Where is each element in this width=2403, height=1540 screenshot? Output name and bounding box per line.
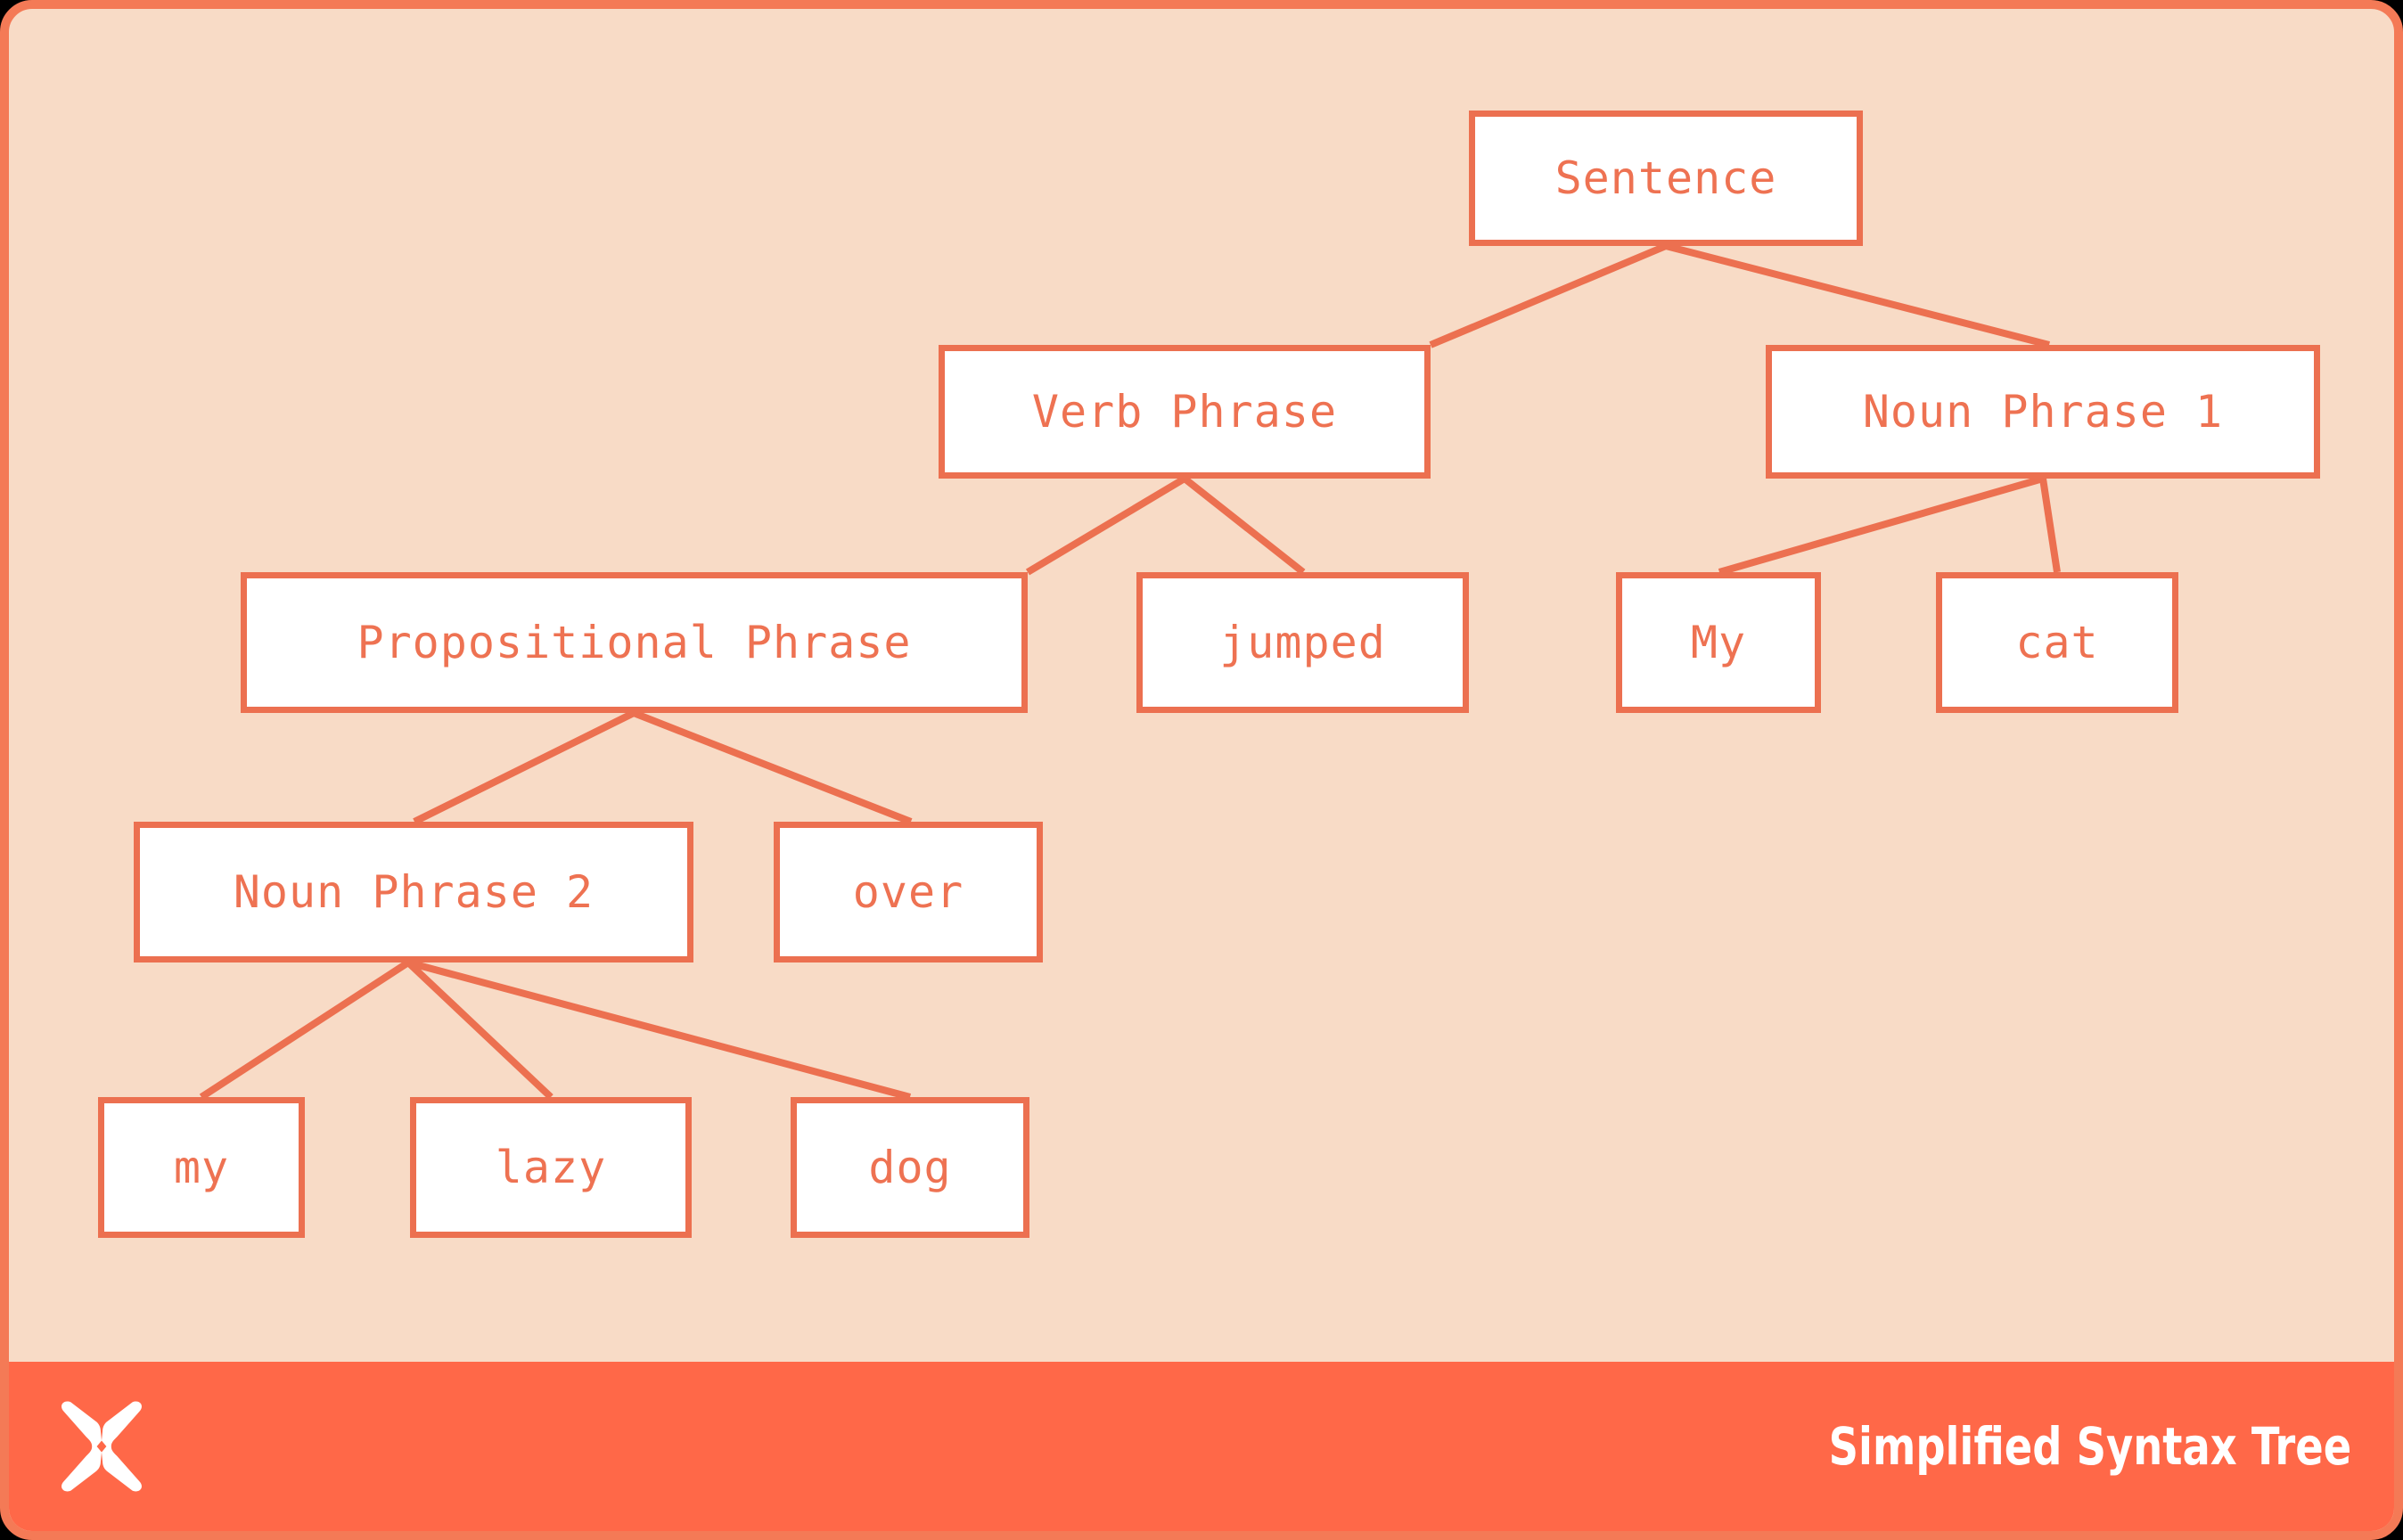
tree-node-verb[interactable]: Verb Phrase [939, 345, 1431, 479]
tree-node-lazy[interactable]: lazy [410, 1097, 692, 1238]
tree-node-cat[interactable]: cat [1936, 572, 2178, 713]
tree-node-jumped[interactable]: jumped [1136, 572, 1469, 713]
tree-node-noun1[interactable]: Noun Phrase 1 [1766, 345, 2320, 479]
tree-edge-noun2-to-dog [408, 962, 910, 1097]
tree-node-my-lower[interactable]: my [98, 1097, 305, 1238]
tree-edge-prop-to-noun2 [414, 713, 634, 822]
tree-node-label: Noun Phrase 1 [1863, 389, 2223, 434]
footer-bar: Simplified Syntax Tree [9, 1362, 2394, 1531]
tree-node-my-cap[interactable]: My [1616, 572, 1821, 713]
tree-edge-noun1-to-my-cap [1719, 479, 2043, 572]
tree-node-label: jumped [1219, 620, 1386, 665]
tree-node-label: Propositional Phrase [357, 620, 911, 665]
tree-edge-verb-to-prop [1028, 479, 1185, 572]
tree-edge-noun1-to-cat [2043, 479, 2057, 572]
tree-node-label: cat [2015, 620, 2098, 665]
tree-node-label: lazy [496, 1145, 606, 1190]
butterfly-x-logo [53, 1398, 150, 1495]
tree-node-over[interactable]: over [774, 822, 1043, 962]
tree-node-label: My [1691, 620, 1746, 665]
footer-title: Simplified Syntax Tree [1828, 1416, 2351, 1477]
tree-edge-sentence-to-verb [1431, 246, 1666, 345]
diagram-card: SentenceVerb PhraseNoun Phrase 1Proposit… [0, 0, 2403, 1540]
tree-node-label: Verb Phrase [1032, 389, 1337, 434]
tree-node-label: my [174, 1145, 229, 1190]
tree-node-label: Noun Phrase 2 [234, 870, 594, 914]
tree-node-label: over [853, 870, 964, 914]
tree-node-dog[interactable]: dog [791, 1097, 1029, 1238]
tree-edge-verb-to-jumped [1185, 479, 1303, 572]
tree-node-label: dog [868, 1145, 951, 1190]
tree-edge-sentence-to-noun1 [1666, 246, 2049, 345]
tree-node-sentence[interactable]: Sentence [1469, 111, 1863, 246]
tree-node-noun2[interactable]: Noun Phrase 2 [134, 822, 693, 962]
tree-node-prop[interactable]: Propositional Phrase [241, 572, 1028, 713]
tree-edge-noun2-to-my-lower [201, 962, 408, 1097]
tree-node-label: Sentence [1555, 156, 1777, 201]
tree-edge-noun2-to-lazy [408, 962, 551, 1097]
syntax-tree-canvas: SentenceVerb PhraseNoun Phrase 1Proposit… [9, 9, 2394, 1362]
tree-edge-prop-to-over [634, 713, 911, 822]
